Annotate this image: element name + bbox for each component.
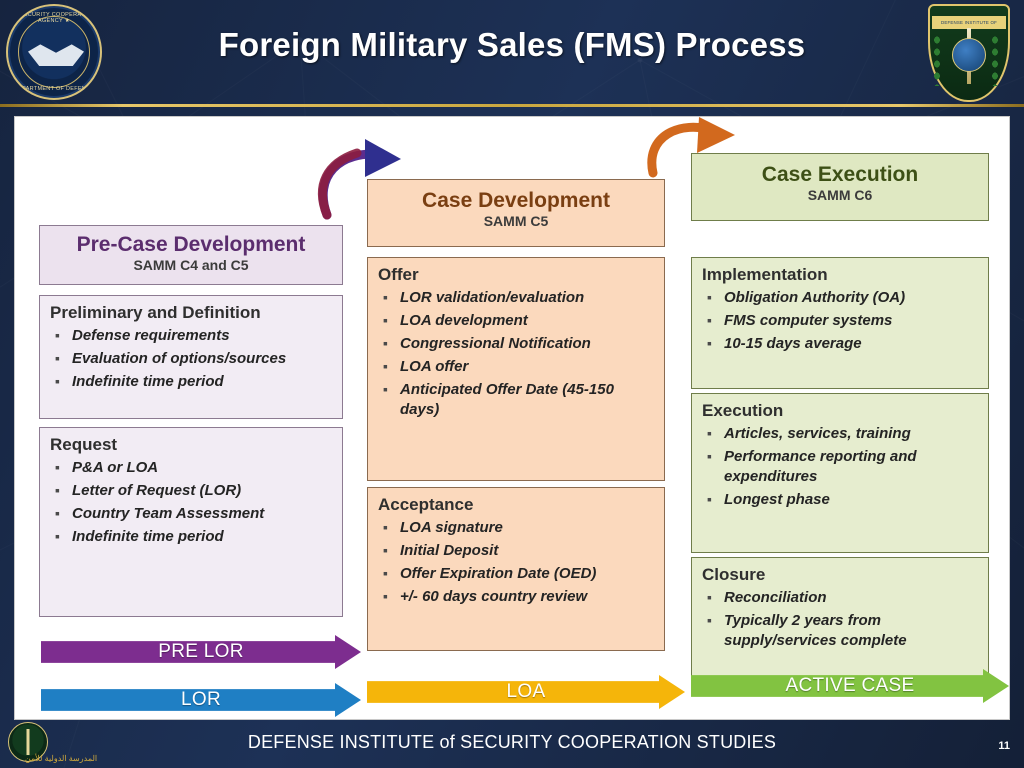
pre-case-development-header: Pre-Case Development SAMM C4 and C5 xyxy=(39,225,343,285)
list-item: +/- 60 days country review xyxy=(378,587,656,607)
offer-heading: Offer xyxy=(378,265,656,285)
case-execution-subtitle: SAMM C6 xyxy=(692,187,988,203)
execution-heading: Execution xyxy=(702,401,980,421)
list-item: Typically 2 years from supply/services c… xyxy=(702,611,980,651)
execution-list: Articles, services, training Performance… xyxy=(702,424,980,510)
wreath-right-icon xyxy=(990,34,1006,86)
case-development-header: Case Development SAMM C5 xyxy=(367,179,665,247)
list-item: Initial Deposit xyxy=(378,541,656,561)
list-item: Letter of Request (LOR) xyxy=(50,481,334,501)
implementation-group: Implementation Obligation Authority (OA)… xyxy=(691,257,989,389)
page-number: 11 xyxy=(998,740,1010,752)
case-execution-header: Case Execution SAMM C6 xyxy=(691,153,989,221)
phase-banner-loa: LOA xyxy=(367,675,685,709)
phase-banner-pre-lor-label: PRE LOR xyxy=(41,635,361,669)
page-title: Foreign Military Sales (FMS) Process xyxy=(0,26,1024,64)
acceptance-list: LOA signature Initial Deposit Offer Expi… xyxy=(378,518,656,607)
list-item: 10-15 days average xyxy=(702,334,980,354)
footer-arabic-caption: المدرسة الدولية للأمن xyxy=(6,754,116,763)
phase-banner-active-case-label: ACTIVE CASE xyxy=(691,669,1009,703)
case-execution-title: Case Execution xyxy=(692,162,988,187)
list-item: LOA offer xyxy=(378,357,656,377)
list-item: Indefinite time period xyxy=(50,372,334,392)
wreath-left-icon xyxy=(932,34,948,86)
acceptance-heading: Acceptance xyxy=(378,495,656,515)
header-divider xyxy=(0,104,1024,107)
list-item: Articles, services, training xyxy=(702,424,980,444)
request-group: Request P&A or LOA Letter of Request (LO… xyxy=(39,427,343,617)
globe-icon xyxy=(952,38,986,72)
phase-banner-pre-lor: PRE LOR xyxy=(41,635,361,669)
list-item: Longest phase xyxy=(702,490,980,510)
list-item: FMS computer systems xyxy=(702,311,980,331)
list-item: Defense requirements xyxy=(50,326,334,346)
case-development-title: Case Development xyxy=(368,188,664,213)
dsca-seal-bottom-text: DEPARTMENT OF DEFENSE xyxy=(8,86,100,92)
discs-seal-icon: DEFENSE INSTITUTE OF SECURITY COOPERATIO… xyxy=(928,4,1010,102)
pre-case-development-subtitle: SAMM C4 and C5 xyxy=(40,257,342,273)
execution-group: Execution Articles, services, training P… xyxy=(691,393,989,553)
closure-list: Reconciliation Typically 2 years from su… xyxy=(702,588,980,651)
closure-heading: Closure xyxy=(702,565,980,585)
request-heading: Request xyxy=(50,435,334,455)
list-item: LOR validation/evaluation xyxy=(378,288,656,308)
slide-header: ★ SECURITY COOPERATION AGENCY ★ DEPARTME… xyxy=(0,0,1024,106)
list-item: Performance reporting and expenditures xyxy=(702,447,980,487)
dsca-seal-top-text: ★ SECURITY COOPERATION AGENCY ★ xyxy=(8,12,100,24)
preliminary-and-definition-heading: Preliminary and Definition xyxy=(50,303,334,323)
pre-case-development-title: Pre-Case Development xyxy=(40,233,342,257)
offer-list: LOR validation/evaluation LOA developmen… xyxy=(378,288,656,420)
list-item: LOA signature xyxy=(378,518,656,538)
list-item: Obligation Authority (OA) xyxy=(702,288,980,308)
list-item: Reconciliation xyxy=(702,588,980,608)
diagram-panel: Pre-Case Development SAMM C4 and C5 Prel… xyxy=(14,116,1010,720)
closure-group: Closure Reconciliation Typically 2 years… xyxy=(691,557,989,683)
list-item: Congressional Notification xyxy=(378,334,656,354)
offer-group: Offer LOR validation/evaluation LOA deve… xyxy=(367,257,665,481)
list-item: LOA development xyxy=(378,311,656,331)
list-item: Offer Expiration Date (OED) xyxy=(378,564,656,584)
implementation-list: Obligation Authority (OA) FMS computer s… xyxy=(702,288,980,354)
phase-banner-loa-label: LOA xyxy=(367,675,685,709)
list-item: Country Team Assessment xyxy=(50,504,334,524)
phase-banner-lor-label: LOR xyxy=(41,683,361,717)
phase-banner-active-case: ACTIVE CASE xyxy=(691,669,1009,703)
preliminary-and-definition-group: Preliminary and Definition Defense requi… xyxy=(39,295,343,419)
list-item: Anticipated Offer Date (45-150 days) xyxy=(378,380,656,420)
request-list: P&A or LOA Letter of Request (LOR) Count… xyxy=(50,458,334,547)
acceptance-group: Acceptance LOA signature Initial Deposit… xyxy=(367,487,665,651)
list-item: Indefinite time period xyxy=(50,527,334,547)
list-item: P&A or LOA xyxy=(50,458,334,478)
preliminary-and-definition-list: Defense requirements Evaluation of optio… xyxy=(50,326,334,392)
implementation-heading: Implementation xyxy=(702,265,980,285)
case-development-subtitle: SAMM C5 xyxy=(368,213,664,229)
footer-organization-name: DEFENSE INSTITUTE of SECURITY COOPERATIO… xyxy=(0,732,1024,753)
list-item: Evaluation of options/sources xyxy=(50,349,334,369)
phase-banner-lor: LOR xyxy=(41,683,361,717)
